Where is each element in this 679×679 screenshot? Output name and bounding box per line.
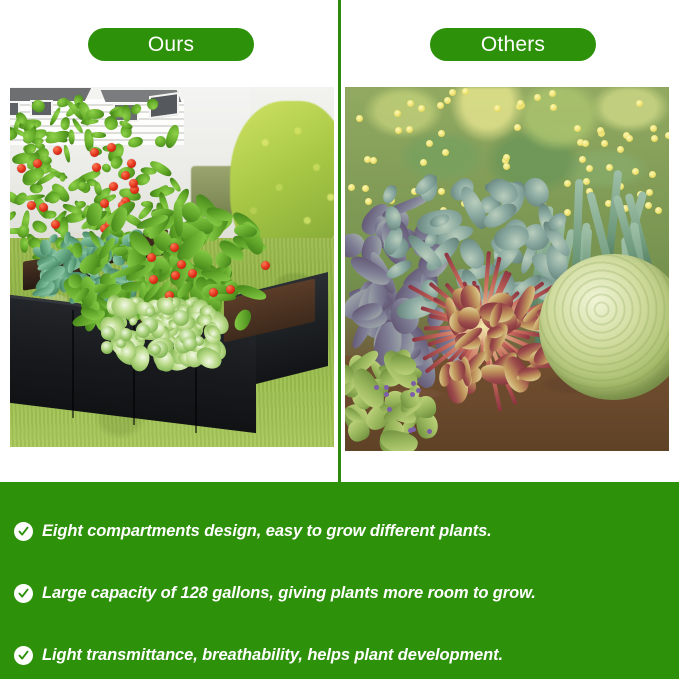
feature-item-3: Light transmittance, breathability, help… — [14, 624, 665, 679]
check-circle-icon — [14, 584, 33, 603]
cabbage-row — [10, 87, 334, 447]
feature-list: Eight compartments design, easy to grow … — [0, 482, 679, 679]
feature-item-2: Large capacity of 128 gallons, giving pl… — [14, 562, 665, 624]
scene-raised-garden-bed — [10, 87, 334, 447]
cabbage-head — [101, 326, 115, 340]
cabbage-head — [136, 324, 150, 338]
feature-item-1: Eight compartments design, easy to grow … — [14, 500, 665, 562]
feature-text-3: Light transmittance, breathability, help… — [42, 646, 503, 665]
violet-flower — [408, 428, 413, 433]
feature-text-1: Eight compartments design, easy to grow … — [42, 522, 492, 541]
cabbage-head — [120, 328, 133, 341]
feature-text-2: Large capacity of 128 gallons, giving pl… — [42, 584, 536, 603]
photo-ours — [10, 87, 334, 447]
violet-flower — [416, 388, 421, 393]
violet-flower — [427, 429, 432, 434]
product-comparison-page: Ours Others — [0, 0, 679, 679]
check-circle-icon — [14, 646, 33, 665]
vertical-divider — [338, 0, 341, 482]
kale-leaf — [381, 183, 399, 205]
violet-flower — [387, 407, 392, 412]
scene-inground-garden — [345, 87, 669, 451]
check-circle-icon — [14, 522, 33, 541]
badge-ours: Ours — [88, 28, 254, 61]
badge-others: Others — [430, 28, 596, 61]
cabbage-head — [101, 341, 113, 353]
photo-others — [345, 87, 669, 451]
